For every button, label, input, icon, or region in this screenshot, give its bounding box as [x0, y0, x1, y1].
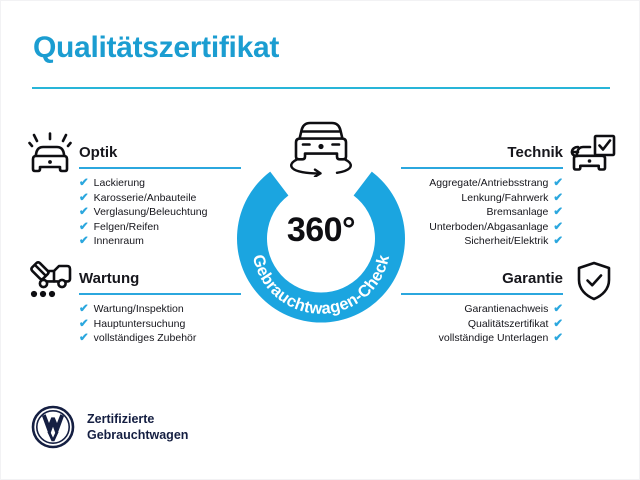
list-item: ✔vollständiges Zubehör [79, 331, 241, 346]
section-optik: Optik ✔Lackierung ✔Karosserie/Anbauteile… [79, 143, 241, 249]
shield-check-icon [574, 260, 614, 307]
car-checkbox-icon [568, 134, 616, 181]
volkswagen-logo [31, 405, 75, 449]
list-item-label: Qualitätszertifikat [468, 317, 549, 332]
section-garantie-divider [401, 293, 563, 295]
list-item: ✔Wartung/Inspektion [79, 302, 241, 317]
list-item: Bremsanlage✔ [401, 205, 563, 220]
section-wartung-title: Wartung [79, 269, 241, 289]
list-item: Sicherheit/Elektrik✔ [401, 234, 563, 249]
list-item: Qualitätszertifikat✔ [401, 317, 563, 332]
section-technik: Technik Aggregate/Antriebsstrang✔ Lenkun… [401, 143, 563, 249]
list-item: ✔Felgen/Reifen [79, 220, 241, 235]
header-divider [32, 87, 610, 89]
check-icon: ✔ [553, 220, 563, 235]
check-icon: ✔ [553, 317, 563, 332]
list-item-label: Hauptuntersuchung [94, 317, 186, 332]
section-optik-header: Optik [79, 143, 241, 169]
footer-brand: Zertifizierte Gebrauchtwagen [31, 405, 188, 449]
list-item-label: Unterboden/Abgasanlage [429, 220, 548, 235]
section-garantie-list: Garantienachweis✔ Qualitätszertifikat✔ v… [401, 302, 563, 346]
check-icon: ✔ [79, 176, 89, 191]
list-item: Unterboden/Abgasanlage✔ [401, 220, 563, 235]
section-wartung-divider [79, 293, 241, 295]
page-title: Qualitätszertifikat [33, 31, 279, 65]
section-garantie: Garantie Garantienachweis✔ Qualitätszert… [401, 269, 563, 346]
check-icon: ✔ [553, 205, 563, 220]
list-item: ✔Lackierung [79, 176, 241, 191]
badge-degrees-label: 360° [229, 211, 413, 250]
list-item-label: Innenraum [94, 234, 144, 249]
list-item-label: Wartung/Inspektion [94, 302, 184, 317]
check-icon: ✔ [79, 331, 89, 346]
section-wartung-header: Wartung [79, 269, 241, 295]
wrench-car-icon [27, 258, 75, 307]
list-item-label: Verglasung/Beleuchtung [94, 205, 208, 220]
check-icon: ✔ [79, 220, 89, 235]
section-technik-title: Technik [401, 143, 563, 163]
check-icon: ✔ [79, 317, 89, 332]
list-item: Aggregate/Antriebsstrang✔ [401, 176, 563, 191]
list-item-label: Aggregate/Antriebsstrang [429, 176, 548, 191]
list-item-label: Garantienachweis [464, 302, 548, 317]
section-optik-divider [79, 167, 241, 169]
certificate-page: Qualitätszertifikat Optik ✔Lackierung ✔K… [0, 0, 640, 480]
list-item-label: Lenkung/Fahrwerk [461, 191, 548, 206]
list-item: ✔Verglasung/Beleuchtung [79, 205, 241, 220]
check-icon: ✔ [553, 191, 563, 206]
360-check-badge: Gebrauchtwagen-Check 360° [229, 149, 413, 333]
check-icon: ✔ [553, 176, 563, 191]
section-technik-header: Technik [401, 143, 563, 169]
check-icon: ✔ [79, 234, 89, 249]
footer-line-2: Gebrauchtwagen [87, 427, 188, 443]
car-front-rotate-icon [279, 115, 363, 177]
footer-text: Zertifizierte Gebrauchtwagen [87, 411, 188, 443]
list-item: ✔Karosserie/Anbauteile [79, 191, 241, 206]
list-item-label: Felgen/Reifen [94, 220, 159, 235]
list-item-label: vollständiges Zubehör [94, 331, 197, 346]
check-icon: ✔ [553, 302, 563, 317]
section-garantie-header: Garantie [401, 269, 563, 295]
check-icon: ✔ [553, 234, 563, 249]
list-item-label: Bremsanlage [486, 205, 548, 220]
list-item-label: vollständige Unterlagen [439, 331, 549, 346]
car-shine-icon [27, 132, 75, 181]
check-icon: ✔ [553, 331, 563, 346]
list-item: vollständige Unterlagen✔ [401, 331, 563, 346]
list-item-label: Sicherheit/Elektrik [464, 234, 548, 249]
section-optik-title: Optik [79, 143, 241, 163]
list-item-label: Karosserie/Anbauteile [94, 191, 197, 206]
section-technik-list: Aggregate/Antriebsstrang✔ Lenkung/Fahrwe… [401, 176, 563, 249]
footer-line-1: Zertifizierte [87, 411, 188, 427]
list-item: ✔Hauptuntersuchung [79, 317, 241, 332]
list-item: Garantienachweis✔ [401, 302, 563, 317]
check-icon: ✔ [79, 205, 89, 220]
section-wartung: Wartung ✔Wartung/Inspektion ✔Hauptunters… [79, 269, 241, 346]
section-optik-list: ✔Lackierung ✔Karosserie/Anbauteile ✔Verg… [79, 176, 241, 249]
list-item: ✔Innenraum [79, 234, 241, 249]
section-wartung-list: ✔Wartung/Inspektion ✔Hauptuntersuchung ✔… [79, 302, 241, 346]
check-icon: ✔ [79, 191, 89, 206]
section-garantie-title: Garantie [401, 269, 563, 289]
list-item-label: Lackierung [94, 176, 145, 191]
section-technik-divider [401, 167, 563, 169]
list-item: Lenkung/Fahrwerk✔ [401, 191, 563, 206]
check-icon: ✔ [79, 302, 89, 317]
